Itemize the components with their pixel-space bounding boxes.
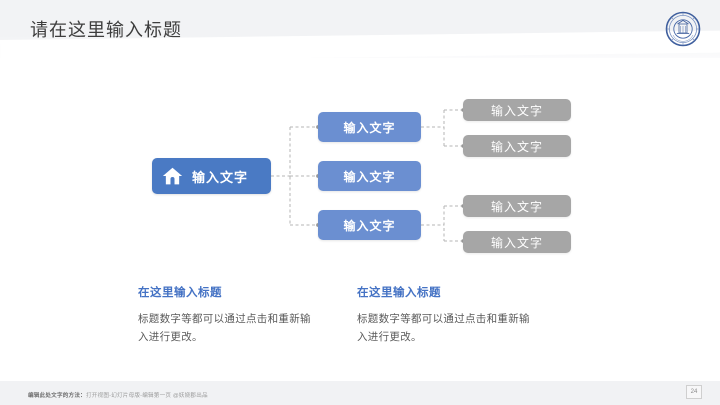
slide: 请在这里输入标题 (0, 0, 720, 405)
diagram-mid-node-1[interactable]: 输入文字 (318, 112, 421, 142)
diagram-leaf-label-4: 输入文字 (491, 234, 543, 251)
diagram-root-node[interactable]: 输入文字 (152, 158, 271, 194)
footer-note: 编辑此处文字的方法：打开视图-幻灯片母版-编辑第一页 @妖娆郡出品 (28, 391, 208, 399)
diagram-leaf-node-4[interactable]: 输入文字 (463, 231, 571, 253)
home-icon (162, 166, 183, 186)
diagram-leaf-node-2[interactable]: 输入文字 (463, 135, 571, 157)
text-column-2: 在这里输入标题 标题数字等都可以通过点击和重新输入进行更改。 (357, 284, 532, 347)
column-2-heading: 在这里输入标题 (357, 284, 532, 300)
footer-note-prefix: 编辑此处文字的方法： (28, 393, 86, 399)
text-column-1: 在这里输入标题 标题数字等都可以通过点击和重新输入进行更改。 (138, 284, 313, 347)
diagram-mid-label-1: 输入文字 (343, 119, 395, 136)
diagram-mid-label-3: 输入文字 (343, 217, 395, 234)
footer-note-text: 打开视图-幻灯片母版-编辑第一页 @妖娆郡出品 (86, 393, 208, 399)
diagram-mid-node-2[interactable]: 输入文字 (318, 161, 421, 191)
page-number-badge: 24 (686, 385, 702, 399)
diagram-root-label: 输入文字 (192, 167, 248, 186)
diagram-leaf-label-3: 输入文字 (491, 198, 543, 215)
diagram-leaf-label-2: 输入文字 (491, 138, 543, 155)
diagram-mid-label-2: 输入文字 (343, 168, 395, 185)
diagram-leaf-label-1: 输入文字 (491, 102, 543, 119)
column-1-heading: 在这里输入标题 (138, 284, 313, 300)
column-2-body: 标题数字等都可以通过点击和重新输入进行更改。 (357, 310, 532, 347)
column-1-body: 标题数字等都可以通过点击和重新输入进行更改。 (138, 310, 313, 347)
diagram-leaf-node-3[interactable]: 输入文字 (463, 195, 571, 217)
diagram-mid-node-3[interactable]: 输入文字 (318, 210, 421, 240)
diagram-leaf-node-1[interactable]: 输入文字 (463, 99, 571, 121)
